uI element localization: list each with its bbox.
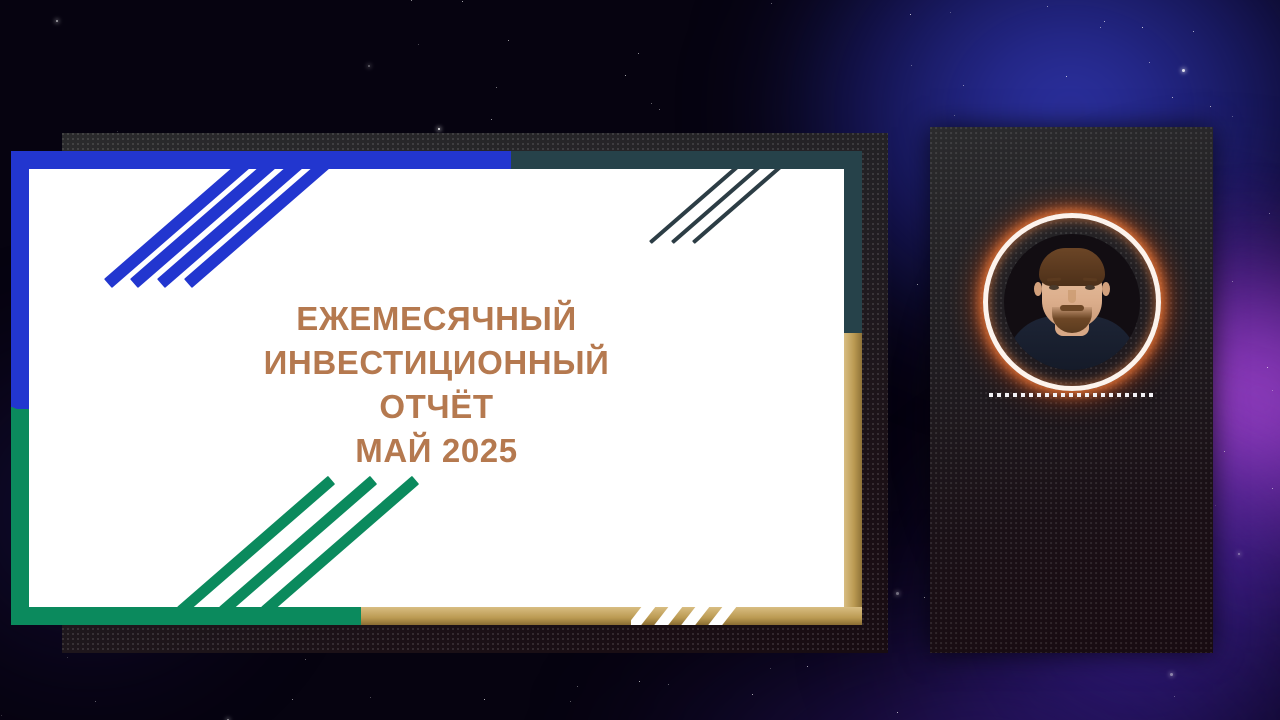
star-dot [370, 697, 371, 698]
star-dot [1269, 213, 1270, 214]
star-dot [1232, 116, 1233, 117]
frame-band-blue-top [11, 151, 519, 169]
star-dot [1182, 69, 1185, 72]
star-dot [950, 12, 951, 13]
star-dot [56, 20, 58, 22]
speaker-panel [930, 127, 1213, 653]
star-dot [117, 131, 118, 132]
star-dot [1215, 505, 1216, 506]
star-dot [1104, 21, 1105, 22]
star-dot [1149, 62, 1150, 63]
frame-band-gold-right [844, 333, 862, 625]
star-dot [897, 712, 898, 713]
star-dot [1170, 673, 1173, 676]
star-dot [771, 3, 772, 4]
star-dot [1174, 696, 1175, 697]
star-dot [954, 115, 955, 116]
star-dot [67, 657, 68, 658]
star-dot [917, 284, 918, 285]
avatar [983, 213, 1161, 391]
star-dot [963, 85, 964, 86]
gold-slash [705, 607, 738, 625]
star-dot [638, 53, 639, 54]
star-dot [577, 686, 578, 687]
star-dot [911, 65, 912, 66]
star-dot [508, 40, 509, 41]
gold-slash [678, 607, 711, 625]
star-dot [305, 659, 306, 660]
frame-band-green-left [11, 409, 29, 625]
star-dot [1, 715, 2, 716]
star-dot [639, 681, 640, 682]
gold-slash-decor [631, 607, 751, 625]
star-dot [1100, 27, 1101, 28]
gold-slash [651, 607, 684, 625]
gold-slash [631, 607, 657, 625]
frame-band-gold-bottom [361, 607, 862, 625]
title-card: ЕЖЕМЕСЯЧНЫЙ ИНВЕСТИЦИОННЫЙ ОТЧЁТ МАЙ 202… [29, 169, 844, 607]
star-dot [1272, 488, 1273, 489]
frame-band-teal-right [844, 151, 862, 341]
star-dot [1272, 390, 1273, 391]
star-dot [770, 668, 771, 669]
decor-stripe-green [261, 476, 419, 607]
star-dot [625, 75, 626, 76]
star-dot [496, 87, 497, 88]
star-dot [411, 0, 412, 1]
star-dot [484, 699, 485, 700]
speaker-divider [989, 393, 1155, 397]
star-dot [418, 44, 419, 45]
star-dot [1066, 76, 1067, 77]
frame-band-blue-left [11, 151, 29, 416]
star-dot [368, 65, 370, 67]
star-dot [807, 666, 808, 667]
star-dot [1172, 97, 1173, 98]
star-dot [1232, 281, 1233, 282]
star-dot [1267, 367, 1268, 368]
star-dot [1142, 27, 1143, 28]
star-dot [95, 701, 96, 702]
star-dot [1047, 6, 1048, 7]
star-dot [910, 14, 911, 15]
star-dot [668, 684, 669, 685]
star-dot [438, 128, 440, 130]
avatar-neon-ring [983, 213, 1161, 391]
star-dot [1210, 106, 1211, 107]
page-title: ЕЖЕМЕСЯЧНЫЙ ИНВЕСТИЦИОННЫЙ ОТЧЁТ МАЙ 202… [29, 297, 844, 473]
frame-band-teal-top [511, 151, 862, 169]
star-dot [462, 1, 463, 2]
frame-band-green-bottom [11, 607, 371, 625]
star-dot [292, 699, 293, 700]
slide-stage: ЕЖЕМЕСЯЧНЫЙ ИНВЕСТИЦИОННЫЙ ОТЧЁТ МАЙ 202… [0, 0, 1280, 720]
star-dot [924, 597, 925, 598]
star-dot [1224, 451, 1225, 452]
star-dot [659, 109, 660, 110]
star-dot [491, 119, 492, 120]
star-dot [752, 694, 753, 695]
star-dot [570, 701, 571, 702]
star-dot [1193, 31, 1194, 32]
star-dot [1238, 553, 1240, 555]
star-dot [651, 103, 652, 104]
star-dot [896, 592, 899, 595]
